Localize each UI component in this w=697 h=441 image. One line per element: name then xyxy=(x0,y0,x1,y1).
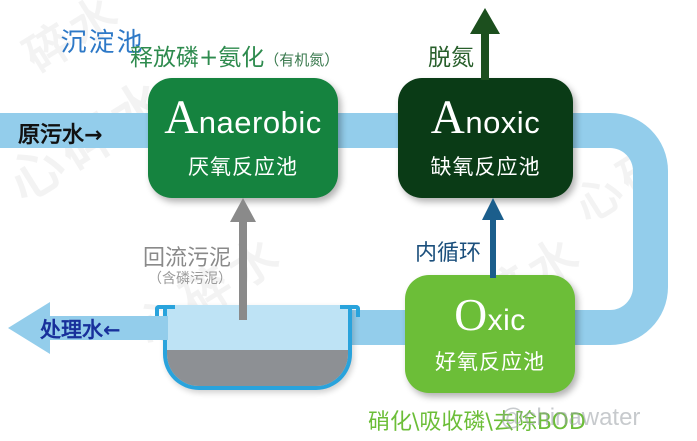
caption-anaerobic-sub: （有机氮） xyxy=(264,51,339,69)
reactor-anaerobic-name: Anaerobic xyxy=(164,95,321,142)
reactor-anaerobic[interactable]: Anaerobic 厌氧反应池 xyxy=(148,78,338,198)
effluent-label: 处理水← xyxy=(40,314,121,344)
caption-anaerobic-main: 释放磷+氨化 xyxy=(130,45,264,71)
reactor-anaerobic-rest: naerobic xyxy=(199,105,322,140)
reactor-anaerobic-chinese: 厌氧反应池 xyxy=(188,151,298,181)
tank-sludge-layer xyxy=(165,350,352,388)
reactor-oxic[interactable]: Oxic 好氧反应池 xyxy=(405,275,575,393)
caption-anoxic: 脱氮 xyxy=(428,38,474,72)
influent-label: 原污水→ xyxy=(18,117,102,149)
return-sludge-arrow-icon xyxy=(228,198,258,320)
reactor-oxic-initial: O xyxy=(454,289,487,340)
reactor-anoxic-initial: A xyxy=(431,92,466,144)
diagram-canvas: 心碎水 心碎 碎水 心碎水 心碎水 心碎 碎水 处理水← 原污水→ 沉淀池 An… xyxy=(0,0,697,441)
reactor-oxic-name: Oxic xyxy=(454,292,526,338)
reactor-oxic-rest: xic xyxy=(488,304,526,337)
reactor-anoxic-rest: noxic xyxy=(465,105,540,140)
internal-recycle-label: 内循环 xyxy=(415,235,481,267)
reactor-anaerobic-initial: A xyxy=(164,92,199,144)
reactor-anoxic[interactable]: Anoxic 缺氧反应池 xyxy=(398,78,573,198)
reactor-anoxic-chinese: 缺氧反应池 xyxy=(431,151,541,181)
tank-lip-right xyxy=(340,305,360,317)
reactor-oxic-chinese: 好氧反应池 xyxy=(435,346,545,376)
return-sludge-sublabel: （含磷污泥） xyxy=(148,268,232,288)
brand-watermark: @chinawater xyxy=(500,404,640,432)
caption-anaerobic: 释放磷+氨化（有机氮） xyxy=(130,38,339,72)
reactor-anoxic-name: Anoxic xyxy=(431,95,540,142)
internal-recycle-arrow-icon xyxy=(480,198,506,278)
